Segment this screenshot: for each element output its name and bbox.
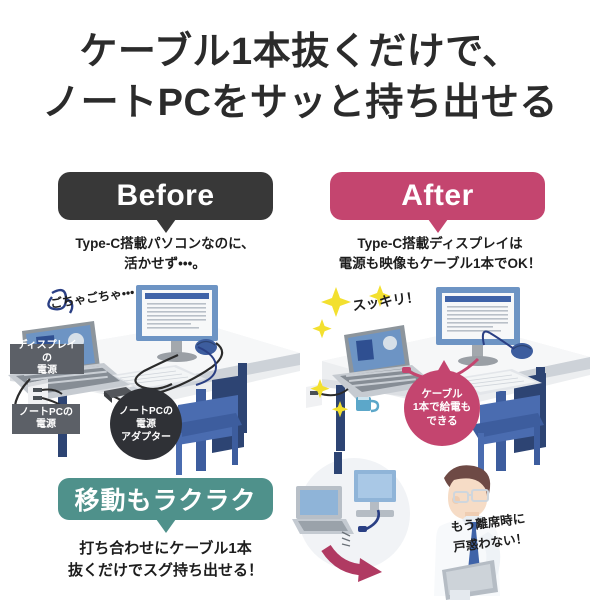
usb-c-plug-icon <box>402 367 411 373</box>
move-caption-line-2: 抜くだけでスグ持ち出せる！ <box>28 560 303 582</box>
person-scene-svg <box>282 452 600 600</box>
label-cable-line-1: ケーブル <box>421 388 462 400</box>
before-badge: Before <box>58 172 273 220</box>
label-cable-line-3: できる <box>426 415 457 427</box>
headline-line-1: ケーブル1本抜くだけで、 <box>0 30 600 75</box>
after-badge: After <box>330 172 545 220</box>
headline-line-2: ノートPCをサッと持ち出せる <box>0 81 600 126</box>
usb-c-plug-icon <box>358 526 367 532</box>
person-illustration <box>282 452 600 600</box>
infographic-canvas: ケーブル1本抜くだけで、 ノートPCをサッと持ち出せる Before Type-… <box>0 0 600 600</box>
label-cable-line-2: 1本で給電も <box>413 401 471 413</box>
before-caption-line-2: 活かせず•••。 <box>20 254 310 274</box>
after-badge-label: After <box>401 179 474 213</box>
label-display-power: ディスプレイの 電源 <box>10 344 84 374</box>
before-badge-label: Before <box>116 179 214 213</box>
label-pc-power: ノートPCの 電源 <box>12 404 80 434</box>
move-badge-label: 移動もラクラク <box>74 481 256 517</box>
after-caption: Type-C搭載ディスプレイは 電源も映像もケーブル1本でOK！ <box>295 234 585 275</box>
label-adapter-line-3: アダプター <box>121 432 171 443</box>
label-adapter-line-1: ノートPCの <box>119 406 173 417</box>
move-badge-tail <box>156 519 176 533</box>
label-pc-power-line-1: ノートPCの <box>19 407 73 418</box>
mouse-icon <box>511 343 533 359</box>
label-pc-power-line-2: 電源 <box>36 419 56 430</box>
after-caption-line-2: 電源も映像もケーブル1本でOK！ <box>295 254 585 274</box>
label-adapter-line-2: 電源 <box>136 419 156 430</box>
label-display-power-line-1: ディスプレイの <box>17 340 76 364</box>
before-caption-line-1: Type-C搭載パソコンなのに、 <box>20 234 310 254</box>
label-cable-pointer <box>436 360 452 374</box>
coffee-mug-icon <box>356 397 378 411</box>
before-badge-tail <box>156 219 176 233</box>
after-badge-tail <box>428 219 448 233</box>
desk-leg-fragment <box>334 452 342 474</box>
move-badge: 移動もラクラク <box>58 478 273 520</box>
move-caption-line-1: 打ち合わせにケーブル1本 <box>28 538 303 560</box>
label-power-adapter: ノートPCの 電源 アダプター <box>110 388 182 460</box>
move-caption: 打ち合わせにケーブル1本 抜くだけでスグ持ち出せる！ <box>28 538 303 582</box>
page-title: ケーブル1本抜くだけで、 ノートPCをサッと持ち出せる <box>0 30 600 126</box>
label-cable-power: ケーブル 1本で給電も できる <box>404 370 480 446</box>
before-caption: Type-C搭載パソコンなのに、 活かせず•••。 <box>20 234 310 275</box>
label-display-power-line-2: 電源 <box>37 365 57 376</box>
after-caption-line-1: Type-C搭載ディスプレイは <box>295 234 585 254</box>
